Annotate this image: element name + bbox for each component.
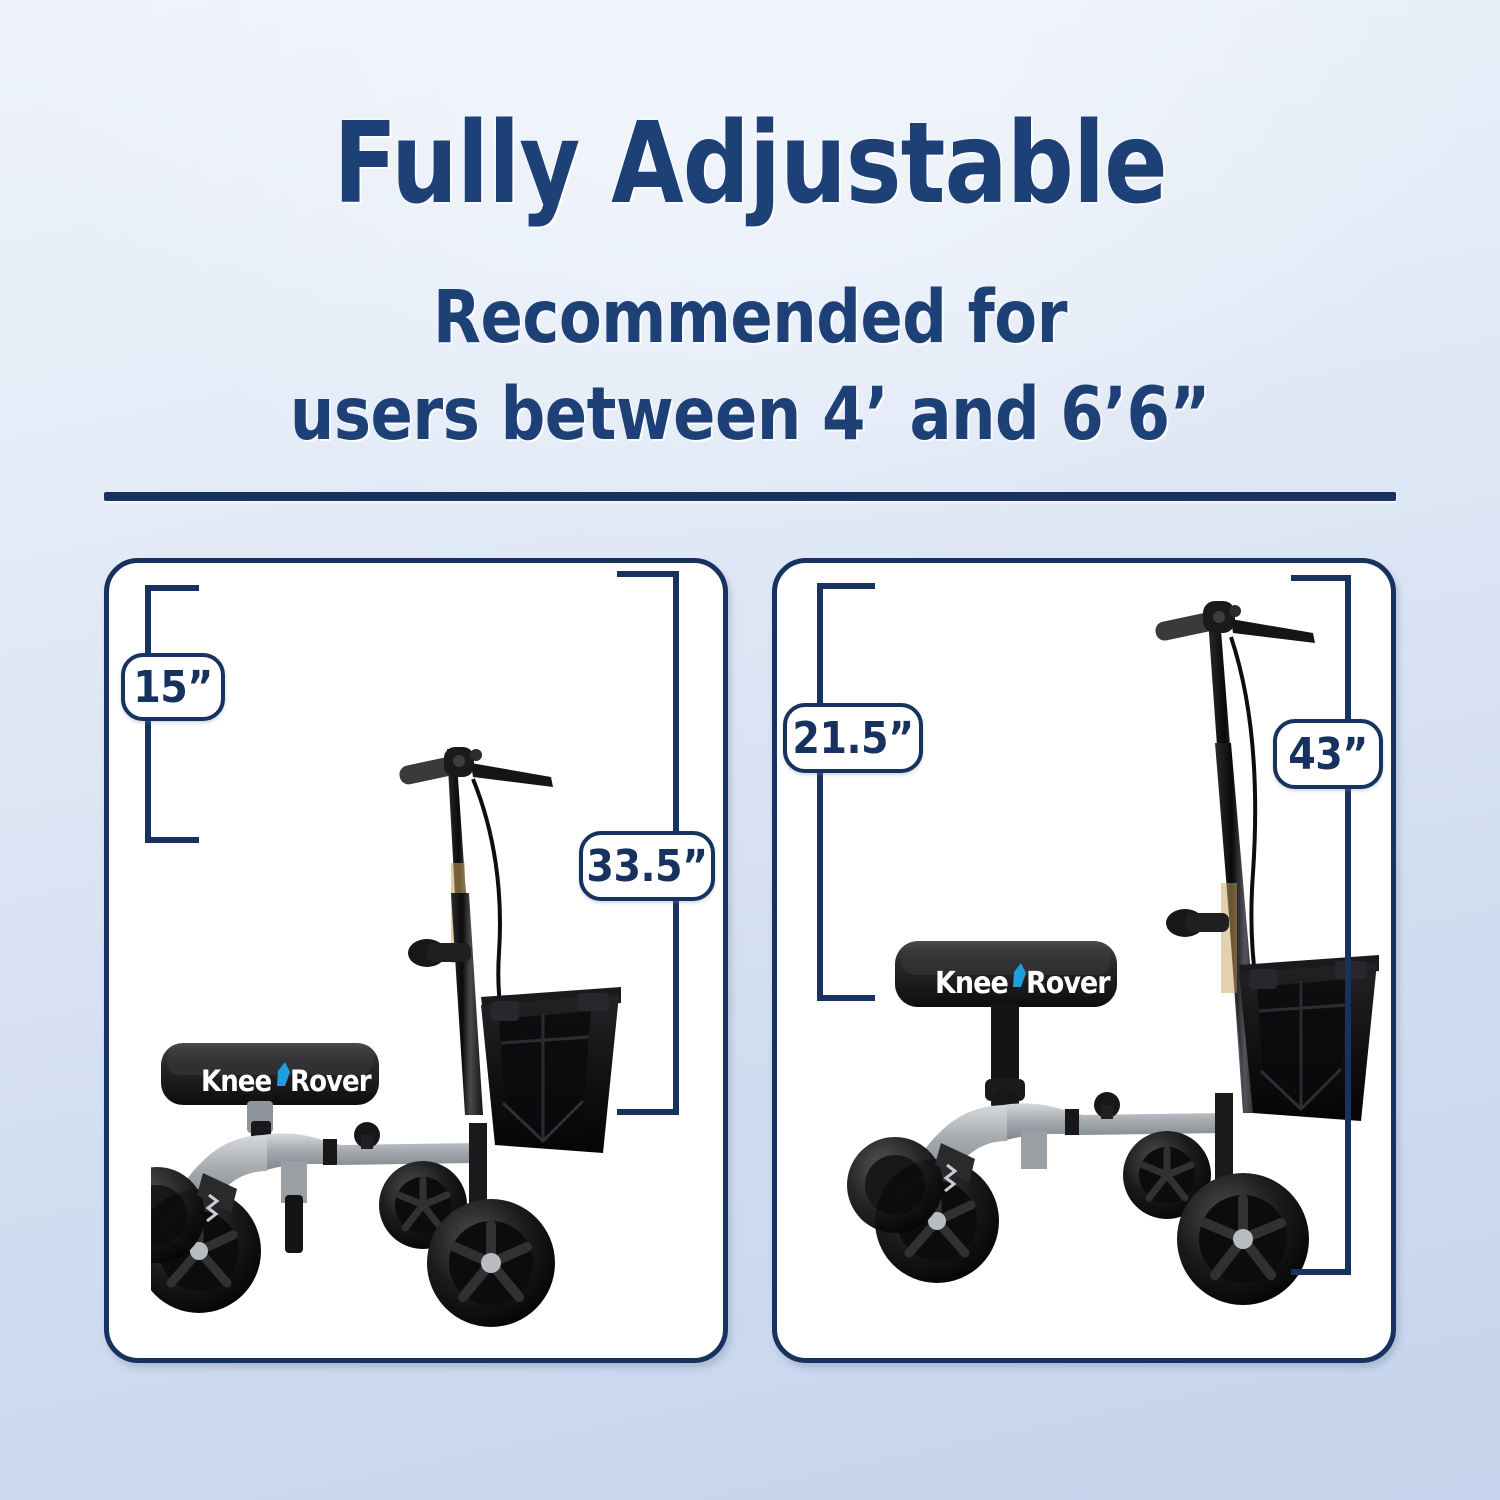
- caster-wheel-rear-right: [847, 1137, 943, 1233]
- dimension-tick-15in-top: [145, 585, 199, 591]
- subtitle-line-1: Recommended for: [38, 220, 1463, 363]
- dimension-tick-33-5in-top: [617, 571, 679, 577]
- dimension-badge-33-5in: 33.5”: [579, 831, 715, 901]
- svg-text:Knee: Knee: [201, 1064, 271, 1098]
- knee-pad-right: Knee Rover: [895, 941, 1117, 1007]
- svg-text:Rover: Rover: [290, 1064, 372, 1098]
- knee-pad-left: Knee Rover: [161, 1043, 379, 1105]
- dimension-tick-21-5in-top: [817, 583, 875, 589]
- dimension-line-21-5in-vertical: [817, 583, 823, 1001]
- dimension-tick-43in-top: [1291, 575, 1351, 581]
- dimension-badge-15in: 15”: [121, 653, 225, 721]
- wheel-rear-right: [1177, 1173, 1309, 1305]
- dimension-line-43in-vertical: [1345, 575, 1351, 1275]
- dimension-badge-43in: 43”: [1273, 719, 1383, 789]
- dimension-badge-21-5in: 21.5”: [783, 703, 923, 773]
- dimension-tick-43in-bottom: [1291, 1269, 1351, 1275]
- page-title: Fully Adjustable: [53, 0, 1448, 220]
- header-divider: [104, 492, 1396, 501]
- dimension-tick-21-5in-bottom: [817, 995, 875, 1001]
- subtitle-line-2: users between 4’ and 6’6”: [38, 363, 1463, 460]
- svg-text:Knee: Knee: [935, 966, 1008, 1001]
- comparison-panels: 15” 33.5”: [0, 558, 1500, 1363]
- header-block: Fully Adjustable Recommended for users b…: [0, 0, 1500, 461]
- infographic-canvas: Fully Adjustable Recommended for users b…: [0, 0, 1500, 1500]
- wheel-rear-left: [427, 1199, 555, 1327]
- svg-text:Rover: Rover: [1026, 966, 1111, 1001]
- panel-highest-setting: 21.5” 43”: [772, 558, 1396, 1363]
- panel-lowest-setting: 15” 33.5”: [104, 558, 728, 1363]
- dimension-tick-33-5in-bottom: [617, 1109, 679, 1115]
- dimension-tick-15in-bottom: [145, 837, 199, 843]
